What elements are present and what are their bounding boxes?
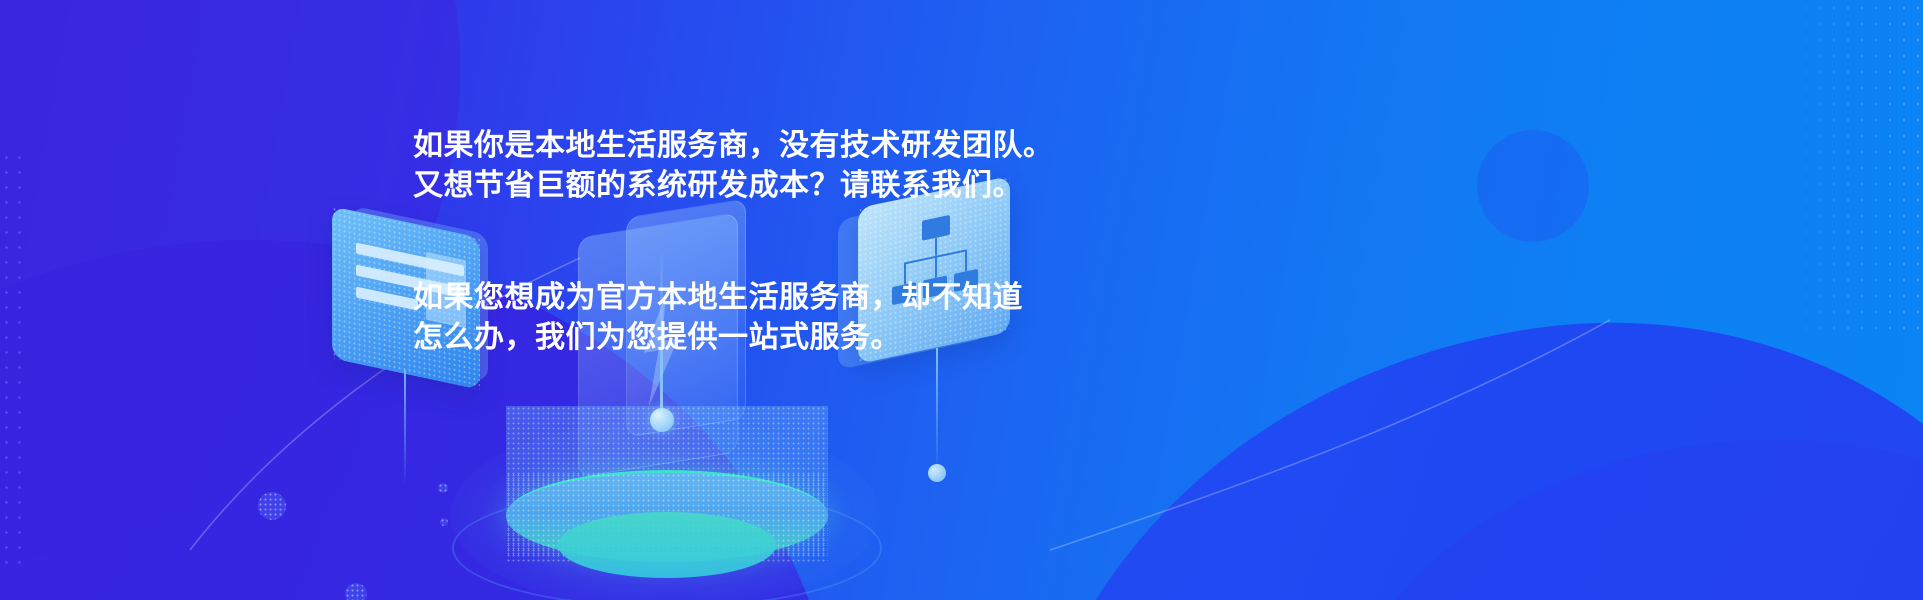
paragraph-1-line-1: 如果你是本地生活服务商，没有技术研发团队。 — [413, 126, 1193, 166]
banner-paragraph-1: 如果你是本地生活服务商，没有技术研发团队。 又想节省巨额的系统研发成本？请联系我… — [413, 126, 1193, 206]
dot-grid-pattern-top-right — [1743, 0, 1923, 330]
connector-stem-left — [404, 370, 406, 482]
circle-shape-right — [1477, 130, 1589, 242]
connector-stem-right — [936, 348, 938, 468]
paragraph-1-line-2: 又想节省巨额的系统研发成本？请联系我们。 — [413, 166, 1193, 206]
paragraph-2-line-2: 怎么办，我们为您提供一站式服务。 — [413, 318, 1193, 358]
banner-copy: 如果你是本地生活服务商，没有技术研发团队。 又想节省巨额的系统研发成本？请联系我… — [413, 126, 1193, 358]
pin-dot-icon — [650, 408, 674, 432]
local-life-service-promo-banner: 如果你是本地生活服务商，没有技术研发团队。 又想节省巨额的系统研发成本？请联系我… — [0, 0, 1923, 600]
platform-core-glow — [558, 512, 776, 578]
banner-paragraph-2: 如果您想成为官方本地生活服务商，却不知道 怎么办，我们为您提供一站式服务。 — [413, 278, 1193, 358]
dot-grid-pattern-left-edge — [0, 150, 26, 570]
decor-dot-medium — [258, 492, 286, 520]
pin-dot-icon-right — [928, 464, 946, 482]
document-line — [356, 287, 418, 311]
paragraph-2-line-1: 如果您想成为官方本地生活服务商，却不知道 — [413, 278, 1193, 318]
